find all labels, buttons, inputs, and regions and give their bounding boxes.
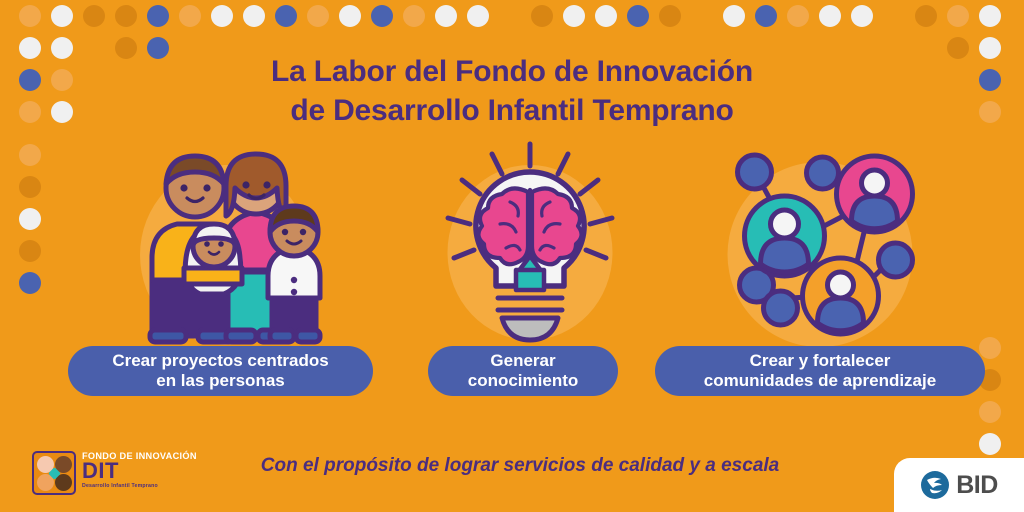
infographic-canvas: La Labor del Fondo de Innovación de Desa…	[0, 0, 1024, 512]
decor-dot	[979, 401, 1001, 423]
decor-dot	[19, 240, 41, 262]
decor-dot	[627, 5, 649, 27]
network-community-icon	[713, 140, 928, 345]
bid-globe-icon	[920, 470, 950, 500]
dit-logo-acronym: DIT	[82, 461, 207, 482]
decor-dot	[787, 5, 809, 27]
pillar-generate-knowledge	[420, 140, 640, 350]
decor-dot	[51, 5, 73, 27]
decor-dot	[19, 144, 41, 166]
pill-people-centered-projects[interactable]: Crear proyectos centrados en las persona…	[68, 346, 373, 396]
footer-tagline: Con el propósito de lograr servicios de …	[180, 455, 860, 477]
pill-3-line-2: comunidades de aprendizaje	[704, 371, 936, 391]
decor-dot	[243, 5, 265, 27]
decor-dot	[115, 5, 137, 27]
pill-2-line-1: Generar	[468, 351, 579, 371]
decor-dot	[339, 5, 361, 27]
decor-dot	[531, 5, 553, 27]
decor-dot	[147, 5, 169, 27]
decor-dot	[211, 5, 233, 27]
decor-dot	[19, 5, 41, 27]
decor-dot	[19, 208, 41, 230]
bid-logo-text: BID	[956, 471, 998, 500]
decor-dot	[275, 5, 297, 27]
decor-dot	[755, 5, 777, 27]
lightbulb-brain-icon	[440, 140, 620, 345]
decor-dot	[979, 5, 1001, 27]
title-line-1: La Labor del Fondo de Innovación	[271, 55, 753, 88]
dit-logo-text: FONDO DE INNOVACIÓN DIT Desarrollo Infan…	[82, 451, 207, 489]
bid-logo-panel: BID	[894, 458, 1024, 512]
decor-dot	[595, 5, 617, 27]
pillar-people-centered-projects	[60, 140, 390, 350]
decor-dot	[723, 5, 745, 27]
decor-dot	[851, 5, 873, 27]
pillar-learning-communities	[655, 140, 985, 350]
pill-3-line-1: Crear y fortalecer	[704, 351, 936, 371]
decor-dot	[659, 5, 681, 27]
decor-dot	[819, 5, 841, 27]
decor-dot	[979, 433, 1001, 455]
decor-dot	[947, 5, 969, 27]
decor-dot	[83, 5, 105, 27]
pill-learning-communities[interactable]: Crear y fortalecer comunidades de aprend…	[655, 346, 985, 396]
dit-faces-logo-icon	[32, 451, 76, 495]
pill-1-line-2: en las personas	[112, 371, 328, 391]
decor-dot	[915, 5, 937, 27]
decor-dot	[563, 5, 585, 27]
pill-generate-knowledge[interactable]: Generar conocimiento	[428, 346, 618, 396]
decor-dot	[467, 5, 489, 27]
pill-1-line-1: Crear proyectos centrados	[112, 351, 328, 371]
title-line-2: de Desarrollo Infantil Temprano	[0, 91, 1024, 130]
decor-dot	[307, 5, 329, 27]
decor-dot	[19, 176, 41, 198]
pill-2-line-2: conocimiento	[468, 371, 579, 391]
family-illustration-icon	[120, 140, 330, 350]
decor-dot	[435, 5, 457, 27]
decor-dot	[403, 5, 425, 27]
decor-dot	[371, 5, 393, 27]
decor-dot	[179, 5, 201, 27]
page-title: La Labor del Fondo de Innovación de Desa…	[0, 52, 1024, 130]
decor-dot	[19, 272, 41, 294]
dit-logo-subtitle: Desarrollo Infantil Temprano	[82, 483, 207, 489]
dit-fund-logo: FONDO DE INNOVACIÓN DIT Desarrollo Infan…	[32, 449, 207, 497]
